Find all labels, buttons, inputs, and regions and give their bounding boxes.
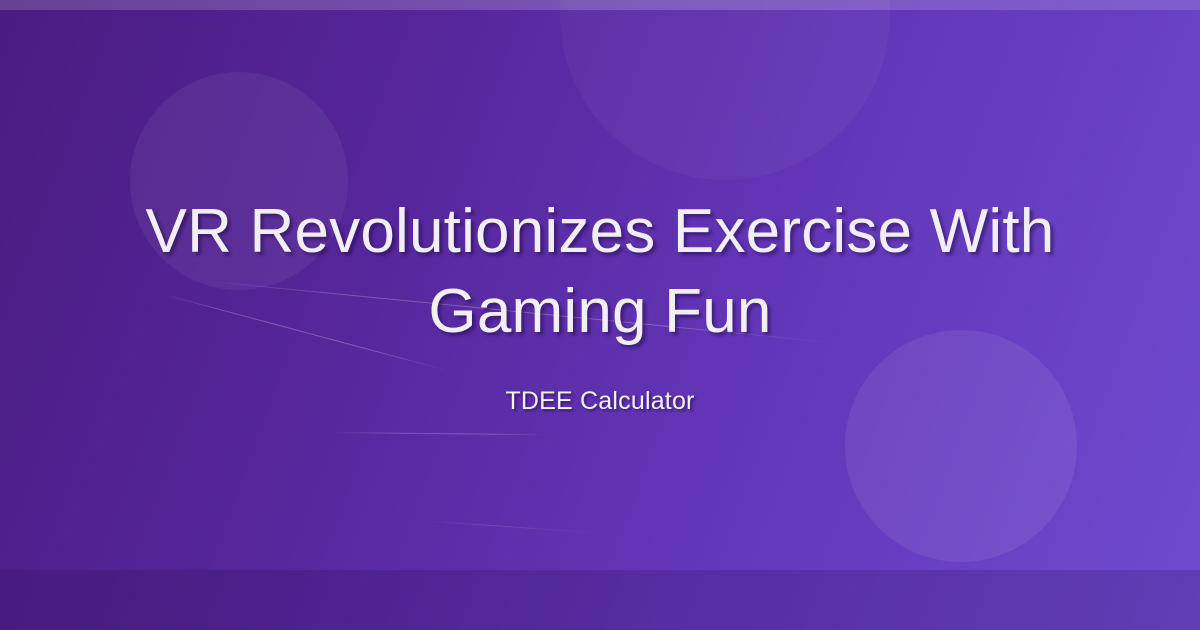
card-content: VR Revolutionizes Exercise With Gaming F… — [0, 0, 1200, 630]
social-share-card: VR Revolutionizes Exercise With Gaming F… — [0, 0, 1200, 630]
page-title: VR Revolutionizes Exercise With Gaming F… — [120, 192, 1080, 351]
site-name-subtitle: TDEE Calculator — [505, 385, 694, 418]
bottom-accent-band — [0, 570, 1200, 630]
